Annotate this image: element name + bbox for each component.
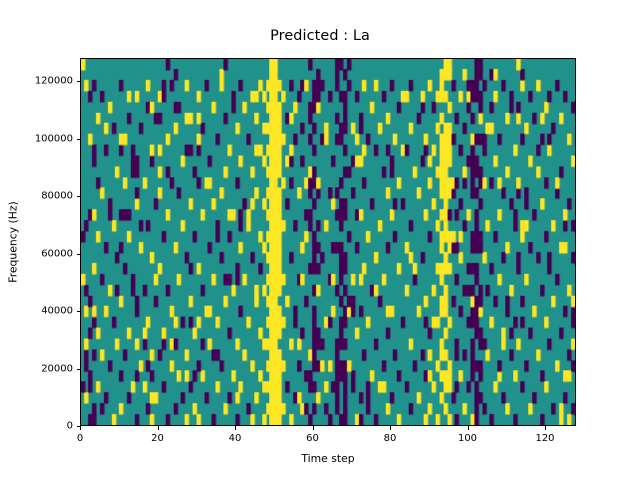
y-tick-label: 100000: [0, 133, 73, 144]
x-tick-label: 0: [77, 433, 83, 444]
y-tick-label: 120000: [0, 76, 73, 87]
y-tick-label: 80000: [0, 191, 73, 202]
x-tick-mark: [80, 426, 81, 430]
page-title: Predicted : La: [0, 28, 640, 44]
matplotlib-figure: Predicted : La Time step Frequency (Hz) …: [0, 0, 640, 480]
x-tick-label: 20: [151, 433, 164, 444]
heatmap-plot-area: [80, 58, 576, 426]
y-tick-label: 20000: [0, 363, 73, 374]
y-tick-label: 60000: [0, 248, 73, 259]
y-tick-mark: [77, 369, 81, 370]
y-tick-mark: [77, 196, 81, 197]
x-tick-mark: [468, 426, 469, 430]
heatmap-image: [81, 59, 575, 425]
x-tick-mark: [235, 426, 236, 430]
x-tick-label: 60: [306, 433, 319, 444]
x-axis-label: Time step: [80, 452, 576, 465]
y-axis-label: Frequency (Hz): [7, 201, 20, 282]
y-tick-label: 0: [0, 421, 73, 432]
y-tick-mark: [77, 311, 81, 312]
x-tick-label: 80: [384, 433, 397, 444]
x-tick-mark: [545, 426, 546, 430]
x-tick-label: 40: [229, 433, 242, 444]
x-tick-mark: [313, 426, 314, 430]
y-tick-label: 40000: [0, 306, 73, 317]
x-tick-label: 120: [535, 433, 554, 444]
y-tick-mark: [77, 81, 81, 82]
x-tick-mark: [158, 426, 159, 430]
y-tick-mark: [77, 254, 81, 255]
x-tick-mark: [390, 426, 391, 430]
y-tick-mark: [77, 139, 81, 140]
x-tick-label: 100: [458, 433, 477, 444]
